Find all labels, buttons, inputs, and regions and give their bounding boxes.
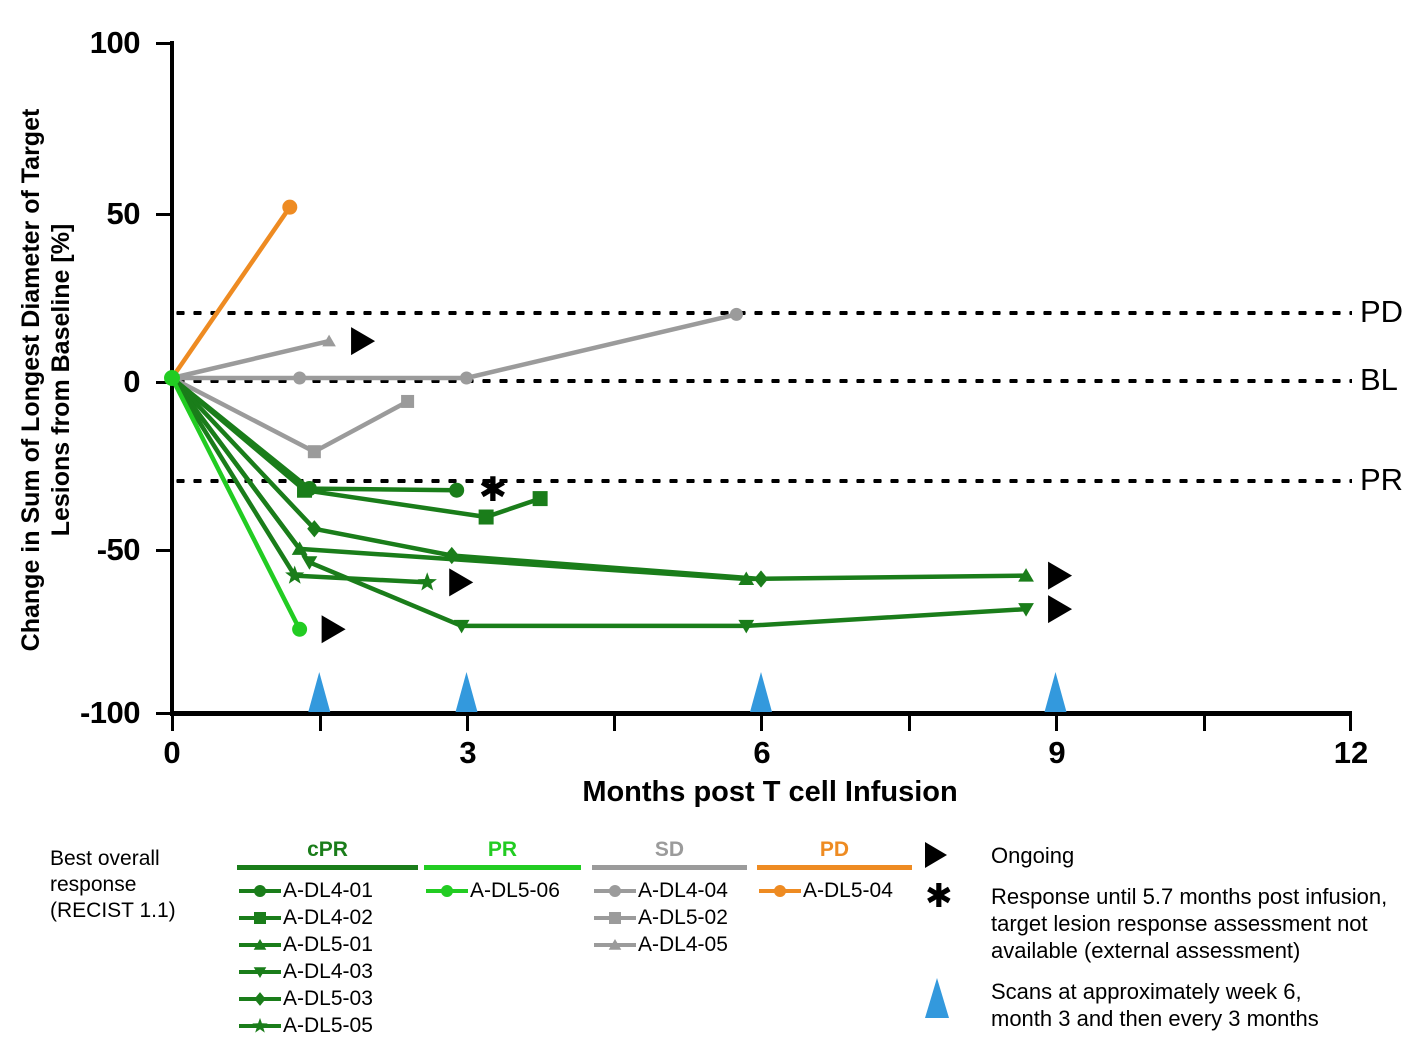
- y-tick-100: [156, 42, 172, 45]
- y-tick-label-100: 100: [0, 27, 140, 58]
- scan-triangle-2: [750, 672, 772, 712]
- series-A-DL4-03: [172, 378, 1034, 633]
- annotation-line: target lesion response assessment not: [991, 910, 1387, 937]
- series-line-A-DL4-05: [172, 341, 329, 378]
- legend-marker-triangle-down-icon: [237, 961, 283, 983]
- legend-group-pd: PD A-DL5-04: [757, 838, 912, 904]
- scan-triangle-3: [1045, 672, 1067, 712]
- series-A-DL5-02: [172, 378, 414, 458]
- scan-triangle-0: [308, 672, 330, 712]
- reference-label-bl: BL: [1360, 364, 1398, 395]
- legend-items-cpr: A-DL4-01A-DL4-02A-DL5-01A-DL4-03A-DL5-03…: [237, 877, 418, 1039]
- legend-group-pr: PR A-DL5-06: [424, 838, 581, 904]
- legend-item-A-DL4-03[interactable]: A-DL4-03: [237, 958, 418, 985]
- series-line-A-DL4-02: [172, 378, 540, 517]
- legend-note-line1: Best overall: [50, 846, 240, 872]
- data-point-A-DL5-04-1: [282, 200, 297, 215]
- data-point-A-DL4-02-3: [533, 491, 548, 506]
- y-tick-neg100: [156, 712, 172, 715]
- ongoing-marker-A-DL4-05: [351, 327, 375, 355]
- asterisk-markers: ✱: [479, 471, 508, 509]
- legend-item-A-DL5-06[interactable]: A-DL5-06: [424, 877, 581, 904]
- y-tick-neg50: [156, 549, 172, 552]
- legend-item-label: A-DL4-02: [283, 907, 373, 929]
- series-line-A-DL5-06: [172, 378, 300, 629]
- annotation-line: available (external assessment): [991, 937, 1387, 964]
- legend-annotations: Ongoing ✱ Response until 5.7 months post…: [925, 838, 1387, 1046]
- x-tick-10p5: [1203, 716, 1206, 731]
- legend-item-label: A-DL5-04: [803, 880, 893, 902]
- asterisk-marker-A-DL4-01: ✱: [479, 471, 508, 509]
- legend-item-A-DL5-04[interactable]: A-DL5-04: [757, 877, 912, 904]
- series-line-A-DL5-02: [172, 378, 408, 452]
- legend-marker-triangle-up-icon: [592, 934, 638, 956]
- legend-rule-cpr: [237, 865, 418, 870]
- series-A-DL5-06: [172, 378, 307, 637]
- data-point-A-DL4-03-3: [738, 620, 754, 634]
- legend-note: Best overall response (RECIST 1.1): [50, 846, 240, 924]
- legend-item-A-DL5-03[interactable]: A-DL5-03: [237, 985, 418, 1012]
- data-point-A-DL4-05-1: [322, 335, 336, 347]
- legend-item-A-DL4-02[interactable]: A-DL4-02: [237, 904, 418, 931]
- data-point-A-DL5-01-3: [1018, 568, 1034, 582]
- legend-item-label: A-DL5-02: [638, 907, 728, 929]
- data-point-A-DL5-05-1: [285, 566, 304, 584]
- x-axis-title: Months post T cell Infusion: [330, 776, 1210, 809]
- data-point-A-DL5-02-2: [401, 395, 414, 408]
- legend-item-label: A-DL5-01: [283, 934, 373, 956]
- reference-label-pd: PD: [1360, 296, 1403, 327]
- series-line-A-DL4-03: [172, 378, 1026, 626]
- legend: Best overall response (RECIST 1.1) cPR A…: [0, 838, 1428, 1041]
- x-tick-4p5: [613, 716, 616, 731]
- legend-note-line3: (RECIST 1.1): [50, 898, 240, 924]
- y-axis-title: Change in Sum of Longest Diameter of Tar…: [16, 60, 76, 700]
- reference-line-bl: [172, 379, 1352, 383]
- x-tick-6: [760, 716, 763, 731]
- legend-marker-circle-icon: [757, 880, 803, 902]
- legend-item-label: A-DL4-05: [638, 934, 728, 956]
- data-point-A-DL4-03-2: [454, 620, 470, 634]
- data-point-A-DL4-03-1: [302, 556, 318, 570]
- series-A-DL4-02: [172, 378, 548, 525]
- legend-item-label: A-DL5-06: [470, 880, 560, 902]
- y-tick-label-neg100: -100: [0, 697, 140, 728]
- x-tick-label-12: 12: [1321, 736, 1381, 770]
- scan-triangle-group: [308, 672, 1066, 712]
- legend-items-pd: A-DL5-04: [757, 877, 912, 904]
- spider-plot-figure: 100 50 0 -50 -100 0 3 6 9 12 PD BL PR Ch…: [0, 0, 1428, 1041]
- data-point-A-DL5-01-1: [292, 541, 308, 555]
- legend-annotation-ongoing-text: Ongoing: [991, 842, 1074, 869]
- reference-line-pd: [172, 311, 1352, 315]
- series-line-A-DL5-04: [172, 207, 290, 378]
- legend-annotation-ongoing: Ongoing: [925, 842, 1387, 869]
- x-tick-9: [1055, 716, 1058, 731]
- legend-marker-circle-icon: [424, 880, 470, 902]
- legend-group-sd: SD A-DL4-04A-DL5-02A-DL4-05: [592, 838, 747, 958]
- x-tick-label-6: 6: [732, 736, 792, 770]
- legend-item-A-DL4-04[interactable]: A-DL4-04: [592, 877, 747, 904]
- legend-group-title-sd: SD: [592, 838, 747, 862]
- x-tick-3: [466, 716, 469, 731]
- scan-triangle-icon: [925, 978, 991, 1018]
- series-A-DL4-05: [172, 335, 336, 378]
- annotation-line: Scans at approximately week 6,: [991, 978, 1319, 1005]
- data-point-A-DL4-02-2: [479, 510, 494, 525]
- ongoing-markers: [322, 327, 1072, 643]
- legend-annotation-asterisk: ✱ Response until 5.7 months post infusio…: [925, 883, 1387, 964]
- series-A-DL4-04: [172, 308, 743, 385]
- data-point-A-DL4-01-2: [449, 483, 464, 498]
- data-point-A-DL5-03-3: [754, 570, 768, 587]
- y-tick-50: [156, 213, 172, 216]
- series-line-A-DL4-01: [172, 378, 457, 490]
- legend-marker-circle-icon: [237, 880, 283, 902]
- legend-rule-sd: [592, 865, 747, 870]
- legend-marker-circle-icon: [592, 880, 638, 902]
- ongoing-marker-A-DL5-05: [449, 568, 473, 596]
- series-A-DL5-04: [172, 200, 297, 378]
- legend-items-pr: A-DL5-06: [424, 877, 581, 904]
- legend-annotation-scans: Scans at approximately week 6,month 3 an…: [925, 978, 1387, 1032]
- data-point-A-DL5-03-1: [307, 520, 321, 537]
- legend-item-A-DL5-01[interactable]: A-DL5-01: [237, 931, 418, 958]
- y-tick-0: [156, 381, 172, 384]
- legend-item-A-DL4-01[interactable]: A-DL4-01: [237, 877, 418, 904]
- series-line-A-DL4-04: [172, 314, 737, 378]
- legend-item-A-DL5-05[interactable]: A-DL5-05: [237, 1012, 418, 1039]
- legend-marker-star-icon: [237, 1015, 283, 1037]
- series-A-DL5-05: [172, 378, 437, 591]
- data-point-A-DL5-03-2: [445, 547, 459, 564]
- data-point-A-DL5-02-1: [308, 445, 321, 458]
- legend-item-label: A-DL4-03: [283, 961, 373, 983]
- y-axis-line: [170, 41, 174, 715]
- data-point-A-DL4-01-1: [302, 481, 317, 496]
- legend-items-sd: A-DL4-04A-DL5-02A-DL4-05: [592, 877, 747, 958]
- x-tick-label-9: 9: [1027, 736, 1087, 770]
- legend-group-title-pd: PD: [757, 838, 912, 862]
- ongoing-marker-A-DL5-06: [322, 615, 346, 643]
- x-tick-label-3: 3: [438, 736, 498, 770]
- legend-note-line2: response: [50, 872, 240, 898]
- legend-item-label: A-DL4-04: [638, 880, 728, 902]
- legend-item-label: A-DL4-01: [283, 880, 373, 902]
- data-point-A-DL5-06-1: [292, 622, 307, 637]
- legend-marker-square-icon: [237, 907, 283, 929]
- data-point-A-DL5-05-2: [418, 572, 437, 590]
- x-tick-12: [1349, 716, 1352, 731]
- x-tick-0: [171, 716, 174, 731]
- series-lines: [164, 200, 1034, 637]
- legend-marker-square-icon: [592, 907, 638, 929]
- reference-label-pr: PR: [1360, 464, 1403, 495]
- data-point-A-DL5-01-2: [738, 572, 754, 586]
- annotation-line: month 3 and then every 3 months: [991, 1005, 1319, 1032]
- reference-line-pr: [172, 479, 1352, 483]
- ongoing-marker-A-DL4-03: [1048, 595, 1072, 623]
- legend-rule-pr: [424, 865, 581, 870]
- legend-item-label: A-DL5-05: [283, 1015, 373, 1037]
- scan-triangle-1: [456, 672, 478, 712]
- asterisk-icon: ✱: [925, 883, 991, 909]
- ongoing-triangle-icon: [925, 842, 991, 868]
- x-tick-label-0: 0: [142, 736, 202, 770]
- x-tick-7p5: [908, 716, 911, 731]
- legend-group-title-pr: PR: [424, 838, 581, 862]
- legend-group-title-cpr: cPR: [237, 838, 418, 862]
- legend-rule-pd: [757, 865, 912, 870]
- legend-item-label: A-DL5-03: [283, 988, 373, 1010]
- data-point-A-DL4-02-1: [297, 483, 312, 498]
- legend-group-cpr: cPR A-DL4-01A-DL4-02A-DL5-01A-DL4-03A-DL…: [237, 838, 418, 1039]
- legend-marker-triangle-up-icon: [237, 934, 283, 956]
- legend-annotation-scans-text: Scans at approximately week 6,month 3 an…: [991, 978, 1319, 1032]
- ongoing-marker-A-DL5-01: [1048, 562, 1072, 590]
- x-tick-1p5: [319, 716, 322, 731]
- legend-marker-diamond-icon: [237, 988, 283, 1010]
- annotation-line: Response until 5.7 months post infusion,: [991, 883, 1387, 910]
- legend-item-A-DL5-02[interactable]: A-DL5-02: [592, 904, 747, 931]
- data-point-A-DL4-03-4: [1018, 603, 1034, 617]
- legend-item-A-DL4-05[interactable]: A-DL4-05: [592, 931, 747, 958]
- legend-annotation-asterisk-text: Response until 5.7 months post infusion,…: [991, 883, 1387, 964]
